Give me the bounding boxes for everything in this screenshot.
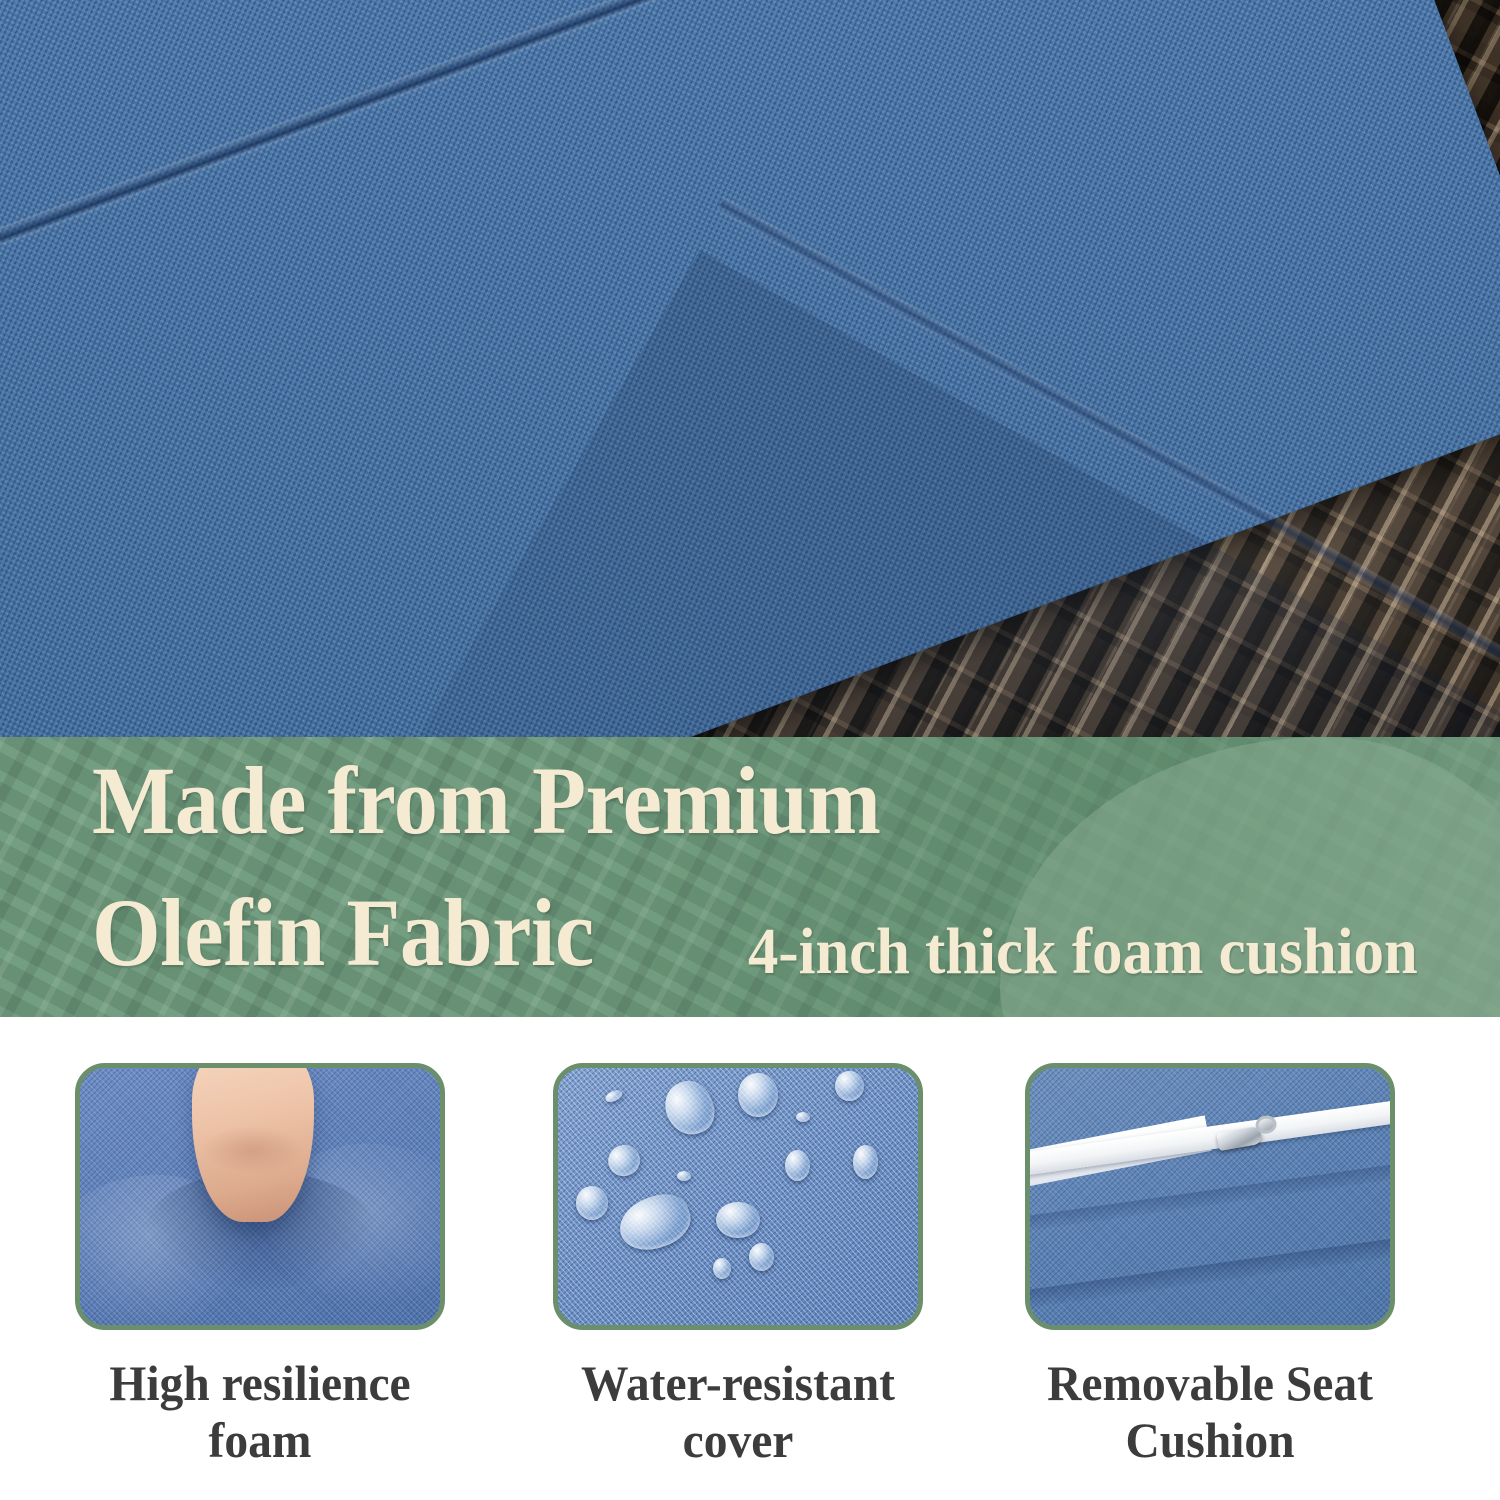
water-droplet: [738, 1073, 778, 1117]
caption-high-resilience-foam: High resilience foam: [56, 1355, 465, 1469]
water-droplet: [835, 1071, 864, 1102]
zipper-tape: [1030, 1094, 1390, 1178]
caption-line-2: Cushion: [1006, 1412, 1415, 1469]
caption-water-resistant-cover: Water-resistant cover: [534, 1355, 943, 1469]
water-droplet: [613, 1186, 698, 1259]
caption-line-2: foam: [56, 1412, 465, 1469]
denim-fabric-background: [558, 1068, 918, 1325]
feature-card-water-resistant-cover: [553, 1063, 923, 1330]
zipper-pull-icon: [1215, 1114, 1281, 1155]
white-zipper-on-blue-cushion-cover-image: [1030, 1068, 1390, 1325]
water-droplet: [796, 1112, 810, 1122]
feature-card-row: [0, 1020, 1500, 1340]
water-droplet: [749, 1243, 774, 1271]
caption-line-1: Removable Seat: [1006, 1355, 1415, 1412]
headline-line-1: Made from Premium: [92, 753, 880, 849]
cushion-fold-line-lower: [1030, 1232, 1390, 1312]
caption-line-2: cover: [534, 1412, 943, 1469]
caption-line-1: Water-resistant: [534, 1355, 943, 1412]
water-droplet: [576, 1186, 608, 1219]
feature-card-removable-seat-cushion: [1025, 1063, 1395, 1330]
headline-banner: Made from Premium Olefin Fabric 4-inch t…: [0, 737, 1500, 1017]
water-droplet: [713, 1258, 731, 1279]
headline-line-2: Olefin Fabric: [92, 885, 594, 981]
caption-removable-seat-cushion: Removable Seat Cushion: [1006, 1355, 1415, 1469]
water-droplet: [677, 1171, 691, 1181]
water-droplet: [604, 1141, 644, 1180]
water-droplet: [716, 1202, 759, 1238]
water-droplet: [853, 1145, 878, 1178]
caption-line-1: High resilience: [56, 1355, 465, 1412]
zipper-fabric-background: [1030, 1068, 1390, 1325]
water-droplet: [603, 1088, 624, 1105]
feature-captions: High resilience foam Water-resistant cov…: [0, 1355, 1500, 1500]
feature-card-high-resilience-foam: [75, 1063, 445, 1330]
product-infographic: Made from Premium Olefin Fabric 4-inch t…: [0, 0, 1500, 1500]
water-droplet: [785, 1150, 810, 1181]
water-droplet: [658, 1074, 722, 1142]
headline-subtext: 4-inch thick foam cushion: [748, 919, 1418, 985]
hero-product-photo: [0, 0, 1500, 760]
fist-pressing-into-foam-cushion-image: [80, 1068, 440, 1325]
water-droplets-beading-on-fabric-image: [558, 1068, 918, 1325]
